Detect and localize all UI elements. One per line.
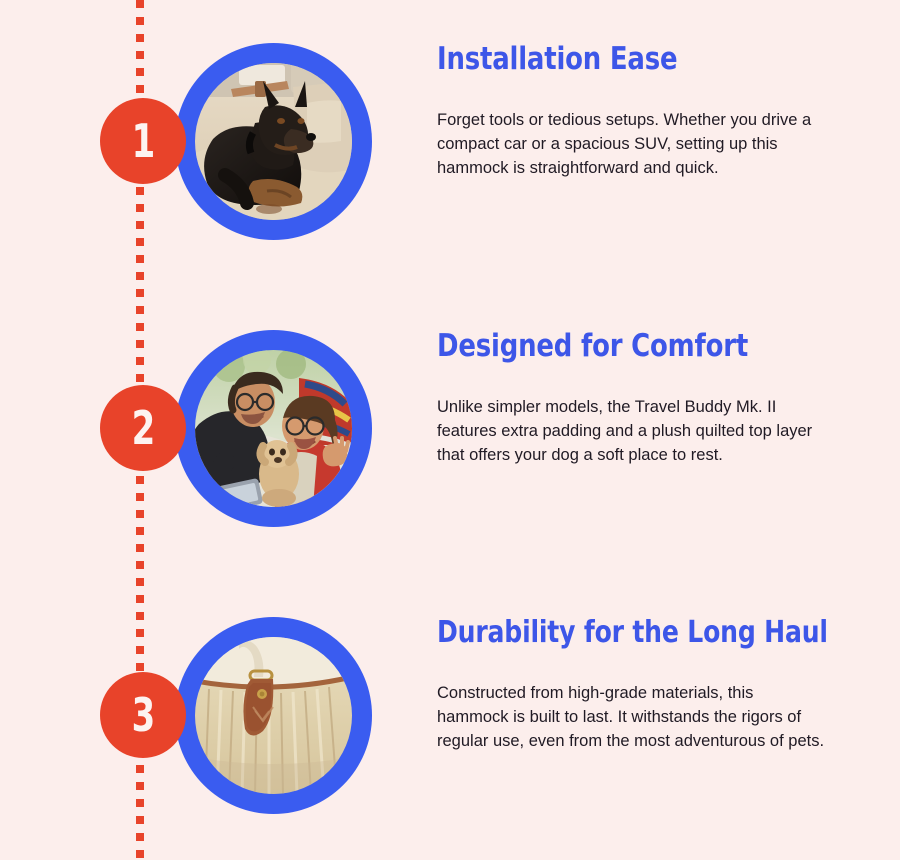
feature-photo [195,350,352,507]
step-badge-number: 1 [131,118,155,164]
feature-text-block: Installation Ease Forget tools or tediou… [437,43,837,180]
feature-text-block: Designed for Comfort Unlike simpler mode… [437,330,837,467]
quilted-hammock-leather-strap-closeup-photo [195,637,352,794]
feature-description: Constructed from high-grade materials, t… [437,681,829,753]
step-badge: 3 [100,672,186,758]
feature-photo [195,637,352,794]
feature-text-block: Durability for the Long Haul Constructed… [437,617,837,753]
step-badge-number: 3 [131,692,155,738]
feature-photo-ring [175,43,372,240]
couple-selfie-with-dog-in-hammock-photo [195,350,352,507]
doberman-dog-in-car-back-seat-photo [195,63,352,220]
step-badge-number: 2 [131,405,155,451]
feature-heading: Designed for Comfort [437,330,809,363]
feature-heading: Durability for the Long Haul [437,617,809,649]
step-badge: 2 [100,385,186,471]
feature-photo [195,63,352,220]
feature-photo-ring [175,617,372,814]
feature-description: Unlike simpler models, the Travel Buddy … [437,395,829,467]
feature-description: Forget tools or tedious setups. Whether … [437,108,829,180]
step-badge: 1 [100,98,186,184]
feature-heading: Installation Ease [437,43,809,76]
feature-photo-ring [175,330,372,527]
infographic-page: { "theme": { "background": "#FCEEEC", "b… [0,0,900,860]
